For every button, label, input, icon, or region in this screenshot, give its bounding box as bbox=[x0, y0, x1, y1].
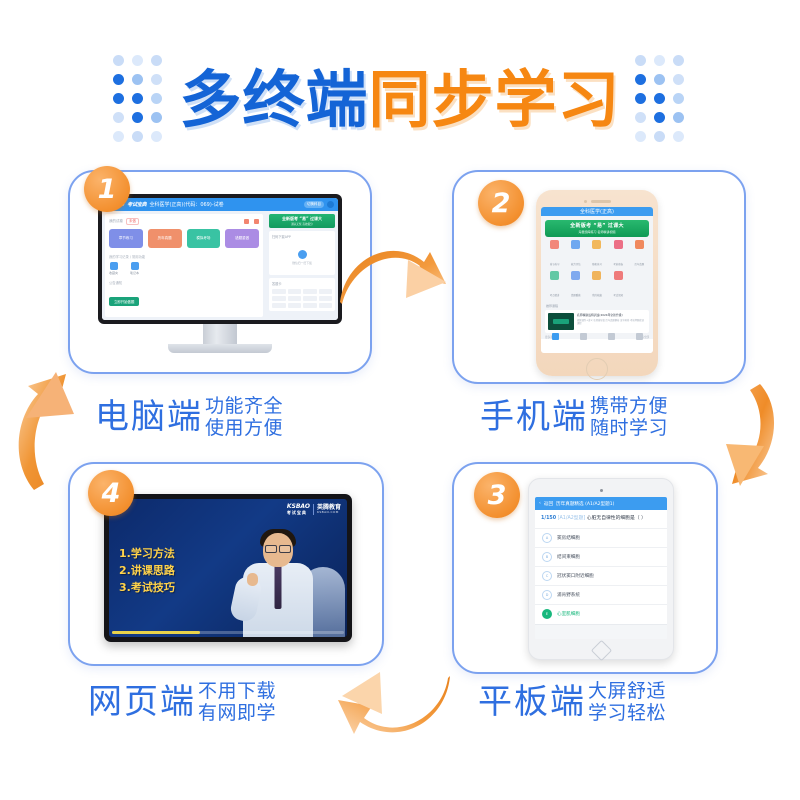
grid-item-favorites[interactable]: 我的收藏 bbox=[587, 271, 606, 300]
video-progress-bar[interactable] bbox=[112, 631, 344, 634]
camera-icon bbox=[600, 489, 603, 492]
promo-banner[interactable]: 全新版考 “易” 过课大 通关无忧 高效提分 bbox=[269, 214, 335, 228]
bullet-2: 2.讲课思路 bbox=[119, 562, 175, 579]
qr-caption: 微信扫一扫下载 bbox=[292, 261, 312, 265]
question-number: 1/150 bbox=[541, 516, 556, 521]
label-web-sub-line2: 有网即学 bbox=[198, 702, 276, 724]
back-label[interactable]: 返回 bbox=[544, 501, 553, 507]
dot-pattern-left bbox=[113, 55, 165, 145]
answer-key[interactable] bbox=[272, 296, 286, 301]
desktop-app-bar: KSBAO 考试宝典 全科医学(正高)(代码：069)-试卷 切换科目 bbox=[102, 198, 338, 211]
quick-card-wrong-questions[interactable]: 错题重做 bbox=[225, 229, 259, 248]
card-tablet[interactable]: 3 ‹ 返回 历年真题精选 (A1/A2型题1) 1/150 [A1/A2型题]… bbox=[452, 462, 718, 674]
favorites-icon bbox=[592, 271, 601, 280]
answer-key[interactable] bbox=[272, 289, 286, 294]
title-blue: 多终端 bbox=[179, 63, 368, 136]
wrong-questions-icon bbox=[571, 271, 580, 280]
tablet-screen: ‹ 返回 历年真题精选 (A1/A2型题1) 1/150 [A1/A2型题] 心… bbox=[535, 497, 667, 639]
grid-item-secret-paper[interactable]: 考前密卷 bbox=[609, 240, 628, 269]
label-tablet: 平板端 大屏舒适 学习轻松 bbox=[478, 680, 666, 725]
phone-title-bar: 全科医学(正高) bbox=[541, 207, 653, 216]
ksbao-logo: KSBAO考试宝典 bbox=[287, 504, 310, 515]
label-desktop: 电脑端 功能齐全 使用方便 bbox=[95, 395, 283, 440]
title-orange: 同步学习 bbox=[369, 63, 621, 136]
chapter-icon bbox=[550, 240, 559, 249]
desktop-side-panel: 全新版考 “易” 过课大 通关无忧 高效提分 扫码下载APP 微信扫一扫下载 答… bbox=[266, 211, 338, 320]
phone-screen: 全科医学(正高) 全新版考 “易” 过课大 海量题库练习 名师精讲视频 章节练习… bbox=[541, 207, 653, 353]
tablet-screen-footer bbox=[535, 624, 667, 639]
tablet-illustration: ‹ 返回 历年真题精选 (A1/A2型题1) 1/150 [A1/A2型题] 心… bbox=[528, 478, 674, 660]
phone-promo-banner[interactable]: 全新版考 “易” 过课大 海量题库练习 名师精讲视频 bbox=[545, 220, 649, 237]
answer-key[interactable] bbox=[303, 296, 317, 301]
dot-pattern-right bbox=[635, 55, 687, 145]
grid-item-assessment[interactable]: 能力评估 bbox=[566, 240, 585, 269]
shortcut-notes[interactable]: 笔记本 bbox=[130, 262, 139, 275]
nav-home[interactable]: 首页 bbox=[541, 333, 569, 354]
label-tablet-sub-line1: 大屏舒适 bbox=[588, 680, 666, 702]
label-web-sub: 不用下载 有网即学 bbox=[198, 680, 276, 725]
option-a[interactable]: A窦房结细胞 bbox=[535, 528, 667, 547]
grid-item-label: 随机练习 bbox=[592, 263, 602, 266]
start-practice-button[interactable]: 立即开始做题 bbox=[109, 297, 139, 306]
note-icon bbox=[131, 262, 139, 270]
qr-download-card: 扫码下载APP 微信扫一扫下载 bbox=[269, 231, 335, 275]
lecturer-figure bbox=[237, 529, 319, 637]
course-title: 名师精讲班特训班(2024年全新升级) bbox=[577, 313, 646, 317]
arrow-left-up-icon bbox=[4, 366, 88, 494]
home-icon bbox=[552, 333, 559, 340]
answer-key[interactable] bbox=[272, 303, 286, 308]
grid-item-random[interactable]: 随机练习 bbox=[587, 240, 606, 269]
phone-section-label: 推荐课程 bbox=[541, 302, 653, 310]
phone-earpiece bbox=[541, 200, 653, 203]
qr-icon bbox=[298, 250, 307, 259]
answer-key[interactable] bbox=[303, 289, 317, 294]
label-tablet-sub-line2: 学习轻松 bbox=[588, 702, 666, 724]
phone-icon-grid-row2: 考点精讲 错题重做 我的收藏 考试须知 bbox=[541, 271, 653, 300]
grid-item-wrong-questions[interactable]: 错题重做 bbox=[566, 271, 585, 300]
course-thumbnail bbox=[548, 313, 574, 330]
grid-item-label: 我的收藏 bbox=[592, 294, 602, 297]
title-text: 多终端同步学习 bbox=[179, 69, 620, 131]
grid-item-empty bbox=[630, 271, 649, 300]
answer-sheet-card: 答题卡 bbox=[269, 278, 335, 311]
back-chevron-icon[interactable]: ‹ bbox=[539, 501, 541, 506]
course-description: 视频课件+讲义 名师辅导班 历年真题解析 含冲刺卷 考前押题密训课程 bbox=[577, 319, 646, 326]
step-badge-3: 3 bbox=[474, 472, 520, 518]
option-text: 窦房结细胞 bbox=[557, 535, 580, 541]
video-watermark: KSBAO考试宝典 英腾教育KSBAO.COM bbox=[287, 504, 341, 515]
answer-key[interactable] bbox=[319, 296, 333, 301]
label-desktop-sub-line1: 功能齐全 bbox=[205, 395, 283, 417]
past-papers-icon bbox=[635, 240, 644, 249]
question-block: 1/150 [A1/A2型题] 心脏无自律性的细胞是（ ） bbox=[535, 510, 667, 528]
bank-icon bbox=[580, 333, 587, 340]
share-icon[interactable] bbox=[254, 219, 259, 224]
icon-shortcut-row: 收藏夹 笔记本 bbox=[109, 262, 259, 275]
shortcut-notes-label: 笔记本 bbox=[130, 271, 139, 275]
option-b[interactable]: B结间束细胞 bbox=[535, 547, 667, 566]
card-web[interactable]: 4 KSBAO考试宝典 英腾教育KSBAO.COM 1.学习方法 2.讲课思路 … bbox=[68, 462, 384, 666]
phone-bottom-nav: 首页 题库 课程 我的 bbox=[541, 339, 653, 353]
label-desktop-sub-line2: 使用方便 bbox=[205, 417, 283, 439]
tablet-bar-title: 历年真题精选 (A1/A2型题1) bbox=[556, 501, 614, 507]
arrow-bottom-left-icon bbox=[336, 658, 452, 750]
label-mobile-sub-line2: 随时学习 bbox=[590, 417, 668, 439]
option-key: D bbox=[542, 590, 552, 600]
nav-profile[interactable]: 我的 bbox=[625, 333, 653, 354]
tablet-home-button[interactable] bbox=[590, 640, 611, 661]
answer-key[interactable] bbox=[319, 303, 333, 308]
random-icon bbox=[592, 240, 601, 249]
label-web-title: 网页端 bbox=[88, 685, 196, 719]
arrow-right-down-icon bbox=[706, 382, 790, 492]
key-points-icon bbox=[550, 271, 559, 280]
grid-item-exam-notice[interactable]: 考试须知 bbox=[609, 271, 628, 300]
desktop-main-panel: 我的试卷 未做 章节练习 历年真题 模拟考场 错题重做 我的学习记录 / 常用功… bbox=[105, 214, 263, 317]
question-type: [A1/A2型题] bbox=[558, 516, 586, 521]
phone-banner-line2: 海量题库练习 名师精讲视频 bbox=[579, 230, 616, 234]
grid-item-label: 考前密卷 bbox=[613, 263, 623, 266]
print-icon[interactable] bbox=[244, 219, 249, 224]
video-player-illustration[interactable]: KSBAO考试宝典 英腾教育KSBAO.COM 1.学习方法 2.讲课思路 3.… bbox=[104, 494, 352, 642]
yingteng-logo-sub: KSBAO.COM bbox=[317, 511, 341, 514]
star-icon bbox=[110, 262, 118, 270]
label-tablet-sub: 大屏舒适 学习轻松 bbox=[588, 680, 666, 725]
grid-item-key-points[interactable]: 考点精讲 bbox=[545, 271, 564, 300]
course-icon bbox=[608, 333, 615, 340]
nav-question-bank[interactable]: 题库 bbox=[569, 333, 597, 354]
answer-sheet-title: 答题卡 bbox=[272, 281, 332, 286]
quick-card-past-papers[interactable]: 历年真题 bbox=[148, 229, 182, 248]
option-text: 浦肯野系统 bbox=[557, 592, 580, 598]
grid-item-label: 考试须知 bbox=[613, 294, 623, 297]
shortcut-favorites[interactable]: 收藏夹 bbox=[109, 262, 118, 275]
tablet-title-bar: ‹ 返回 历年真题精选 (A1/A2型题1) bbox=[535, 497, 667, 510]
label-mobile-title: 手机端 bbox=[480, 400, 588, 434]
phone-icon-grid-row1: 章节练习 能力评估 随机练习 考前密卷 历年真题 bbox=[541, 240, 653, 269]
grid-item-label: 能力评估 bbox=[571, 263, 581, 266]
option-e[interactable]: E心室肌细胞 bbox=[535, 604, 667, 623]
promo-banner-line2: 通关无忧 高效提分 bbox=[291, 222, 313, 226]
option-text: 冠状窦口附近细胞 bbox=[557, 573, 594, 579]
card-mobile[interactable]: 2 全科医学(正高) 全新版考 “易” 过课大 海量题库练习 名师精讲视频 章节… bbox=[452, 170, 746, 384]
label-desktop-sub: 功能齐全 使用方便 bbox=[205, 395, 283, 440]
logo-divider bbox=[313, 504, 314, 515]
option-key: A bbox=[542, 533, 552, 543]
monitor-neck bbox=[203, 324, 237, 346]
status-badge: 未做 bbox=[126, 218, 139, 225]
qr-code: 微信扫一扫下载 bbox=[272, 242, 332, 272]
poster-stage: 多终端同步学习 1 KSBAO 考试宝典 全科医学(正高)(代码：069)-试卷… bbox=[0, 0, 800, 800]
page-title: 多终端同步学习 bbox=[0, 52, 800, 148]
shortcut-favorites-label: 收藏夹 bbox=[109, 271, 118, 275]
option-key: C bbox=[542, 571, 552, 581]
avatar[interactable] bbox=[327, 201, 334, 208]
monitor-base bbox=[168, 344, 272, 353]
qr-card-title: 扫码下载APP bbox=[272, 234, 332, 239]
answer-key[interactable] bbox=[288, 289, 302, 294]
phone-home-button[interactable] bbox=[586, 358, 608, 380]
grid-item-past-papers[interactable]: 历年真题 bbox=[630, 240, 649, 269]
grid-item-label: 考点精讲 bbox=[550, 294, 560, 297]
step-badge-1: 1 bbox=[84, 166, 130, 212]
option-d[interactable]: D浦肯野系统 bbox=[535, 585, 667, 604]
answer-key[interactable] bbox=[319, 289, 333, 294]
label-mobile-sub-line1: 携带方便 bbox=[590, 395, 668, 417]
answer-sheet-grid[interactable] bbox=[272, 289, 332, 308]
switch-subject-button[interactable]: 切换科目 bbox=[304, 201, 324, 208]
grid-item-label: 历年真题 bbox=[635, 263, 645, 266]
monitor-screen: KSBAO 考试宝典 全科医学(正高)(代码：069)-试卷 切换科目 我的试卷… bbox=[98, 194, 342, 324]
ksbao-logo-main: KSBAO bbox=[287, 503, 310, 510]
card-desktop[interactable]: 1 KSBAO 考试宝典 全科医学(正高)(代码：069)-试卷 切换科目 我的… bbox=[68, 170, 372, 374]
course-list-item[interactable]: 名师精讲班特训班(2024年全新升级) 视频课件+讲义 名师辅导班 历年真题解析… bbox=[545, 310, 649, 333]
assessment-icon bbox=[571, 240, 580, 249]
toolbar-icons[interactable] bbox=[244, 219, 259, 224]
question-text: 心脏无自律性的细胞是（ ） bbox=[587, 516, 646, 521]
app-brand: 考试宝典 bbox=[127, 201, 146, 208]
option-c[interactable]: C冠状窦口附近细胞 bbox=[535, 566, 667, 585]
option-key: B bbox=[542, 552, 552, 562]
bullet-3: 3.考试技巧 bbox=[119, 579, 175, 596]
quick-card-chapter[interactable]: 章节练习 bbox=[109, 229, 143, 248]
ksbao-logo-sub: 考试宝典 bbox=[287, 511, 310, 515]
quick-card-row: 章节练习 历年真题 模拟考场 错题重做 bbox=[109, 229, 259, 248]
label-tablet-title: 平板端 bbox=[478, 685, 586, 719]
bullet-1: 1.学习方法 bbox=[119, 545, 175, 562]
grid-item-chapter[interactable]: 章节练习 bbox=[545, 240, 564, 269]
label-web-sub-line1: 不用下载 bbox=[198, 680, 276, 702]
phone-banner-line1: 全新版考 “易” 过课大 bbox=[570, 222, 624, 229]
lecture-bullets: 1.学习方法 2.讲课思路 3.考试技巧 bbox=[119, 545, 175, 596]
label-mobile-sub: 携带方便 随时学习 bbox=[590, 395, 668, 440]
label-mobile: 手机端 携带方便 随时学习 bbox=[480, 395, 668, 440]
paper-label: 我的试卷 bbox=[109, 219, 123, 224]
section-label-2: 公告通知 bbox=[109, 280, 259, 285]
phone-illustration: 全科医学(正高) 全新版考 “易” 过课大 海量题库练习 名师精讲视频 章节练习… bbox=[536, 190, 658, 376]
arrow-top-right-icon bbox=[338, 238, 450, 334]
bottom-strip bbox=[0, 772, 800, 800]
secret-paper-icon bbox=[614, 240, 623, 249]
grid-item-label: 章节练习 bbox=[550, 263, 560, 266]
option-key: E bbox=[542, 609, 552, 619]
section-label: 我的学习记录 / 常用功能 bbox=[109, 254, 259, 259]
yingteng-logo: 英腾教育KSBAO.COM bbox=[317, 505, 341, 515]
desktop-monitor-illustration: KSBAO 考试宝典 全科医学(正高)(代码：069)-试卷 切换科目 我的试卷… bbox=[98, 194, 342, 364]
answer-key[interactable] bbox=[288, 303, 302, 308]
answer-key[interactable] bbox=[303, 303, 317, 308]
step-badge-4: 4 bbox=[88, 470, 134, 516]
step-badge-2: 2 bbox=[478, 180, 524, 226]
nav-courses[interactable]: 课程 bbox=[597, 333, 625, 354]
label-desktop-title: 电脑端 bbox=[95, 400, 203, 434]
option-text: 心室肌细胞 bbox=[557, 611, 580, 617]
user-icon bbox=[636, 333, 643, 340]
glasses-icon bbox=[265, 545, 291, 551]
grid-item-label: 错题重做 bbox=[571, 294, 581, 297]
option-text: 结间束细胞 bbox=[557, 554, 580, 560]
quick-card-mock-exam[interactable]: 模拟考场 bbox=[187, 229, 221, 248]
answer-key[interactable] bbox=[288, 296, 302, 301]
exam-notice-icon bbox=[614, 271, 623, 280]
label-web: 网页端 不用下载 有网即学 bbox=[88, 680, 276, 725]
app-title: 全科医学(正高)(代码：069)-试卷 bbox=[149, 201, 223, 208]
